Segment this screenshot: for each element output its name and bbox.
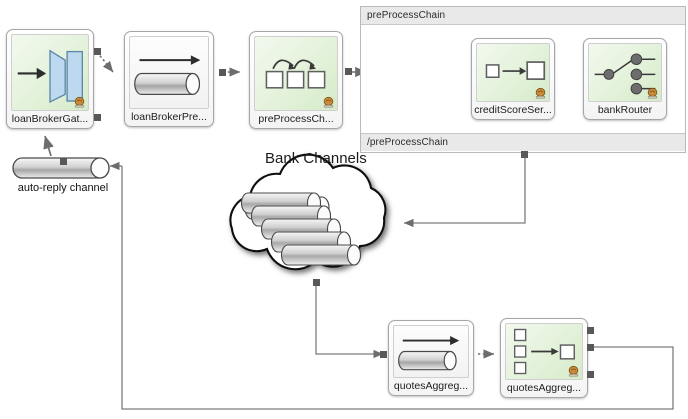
handle-aggregator-se[interactable] [587, 371, 594, 378]
handle-group-s[interactable] [521, 151, 528, 158]
handle-channel-n[interactable] [60, 158, 67, 165]
handle-quotes-channel-w[interactable] [380, 351, 387, 358]
handle-chain-e[interactable] [345, 68, 352, 75]
handle-gateway-se[interactable] [94, 114, 101, 121]
selection-handle-layer[interactable] [0, 0, 688, 419]
handle-pre-e[interactable] [219, 69, 226, 76]
handle-gateway-ne[interactable] [94, 48, 101, 55]
diagram-canvas[interactable]: preProcessChain [0, 0, 688, 419]
handle-aggregator-e[interactable] [587, 344, 594, 351]
handle-aggregator-ne[interactable] [587, 327, 594, 334]
handle-cloud-s[interactable] [313, 279, 320, 286]
